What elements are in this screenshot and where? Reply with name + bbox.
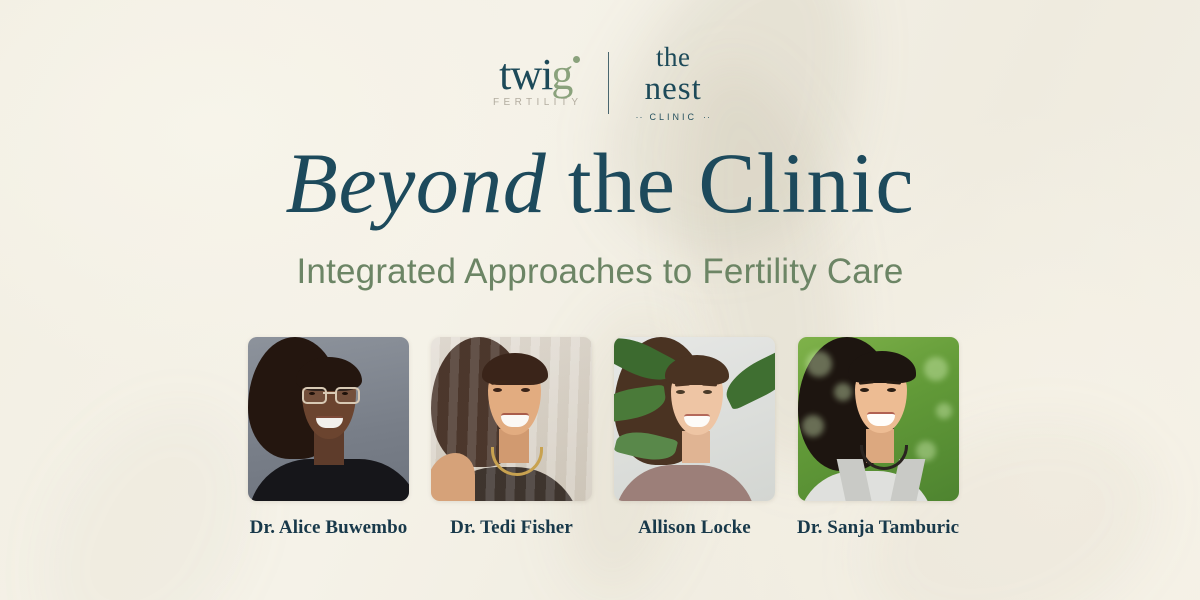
dots-right-icon: ·· bbox=[703, 112, 711, 122]
speaker-card: Allison Locke bbox=[614, 337, 775, 539]
nest-word-the: the bbox=[656, 44, 691, 71]
twig-wordmark-accent: g bbox=[551, 54, 572, 96]
portrait-illustration bbox=[431, 337, 592, 501]
twig-wordmark: twig bbox=[499, 54, 572, 96]
portrait-illustration bbox=[798, 337, 959, 501]
speaker-list: Dr. Alice Buwembo bbox=[248, 337, 952, 539]
logo-lockup: twig FERTILITY the nest ·· CLINIC ·· bbox=[0, 44, 1200, 122]
page-title-italic: Beyond bbox=[285, 135, 546, 231]
twig-wordmark-dark: twi bbox=[499, 54, 552, 96]
portrait-illustration bbox=[614, 337, 775, 501]
speaker-photo bbox=[614, 337, 775, 501]
page-title: Beyond the Clinic bbox=[0, 140, 1200, 226]
page-title-roman: the Clinic bbox=[568, 135, 915, 231]
speaker-card: Dr. Sanja Tamburic bbox=[797, 337, 959, 539]
dots-left-icon: ·· bbox=[635, 112, 643, 122]
nest-word-nest: nest bbox=[645, 71, 702, 108]
speaker-name: Dr. Sanja Tamburic bbox=[797, 517, 959, 539]
nest-clinic-label-row: ·· CLINIC ·· bbox=[635, 112, 711, 122]
speaker-name: Dr. Alice Buwembo bbox=[250, 517, 408, 539]
speaker-photo bbox=[798, 337, 959, 501]
portrait-illustration bbox=[248, 337, 409, 501]
logo-divider bbox=[608, 52, 609, 114]
event-banner: twig FERTILITY the nest ·· CLINIC ·· Bey… bbox=[0, 0, 1200, 600]
speaker-photo bbox=[431, 337, 592, 501]
twig-dot-icon bbox=[573, 56, 580, 63]
the-nest-clinic-logo: the nest ·· CLINIC ·· bbox=[635, 44, 711, 122]
twig-fertility-logo: twig FERTILITY bbox=[489, 44, 582, 108]
speaker-name: Dr. Tedi Fisher bbox=[450, 517, 573, 539]
page-subtitle: Integrated Approaches to Fertility Care bbox=[0, 252, 1200, 292]
speaker-photo bbox=[248, 337, 409, 501]
speaker-card: Dr. Tedi Fisher bbox=[431, 337, 592, 539]
nest-clinic-label: CLINIC bbox=[649, 112, 697, 122]
speaker-name: Allison Locke bbox=[638, 517, 751, 539]
speaker-card: Dr. Alice Buwembo bbox=[248, 337, 409, 539]
